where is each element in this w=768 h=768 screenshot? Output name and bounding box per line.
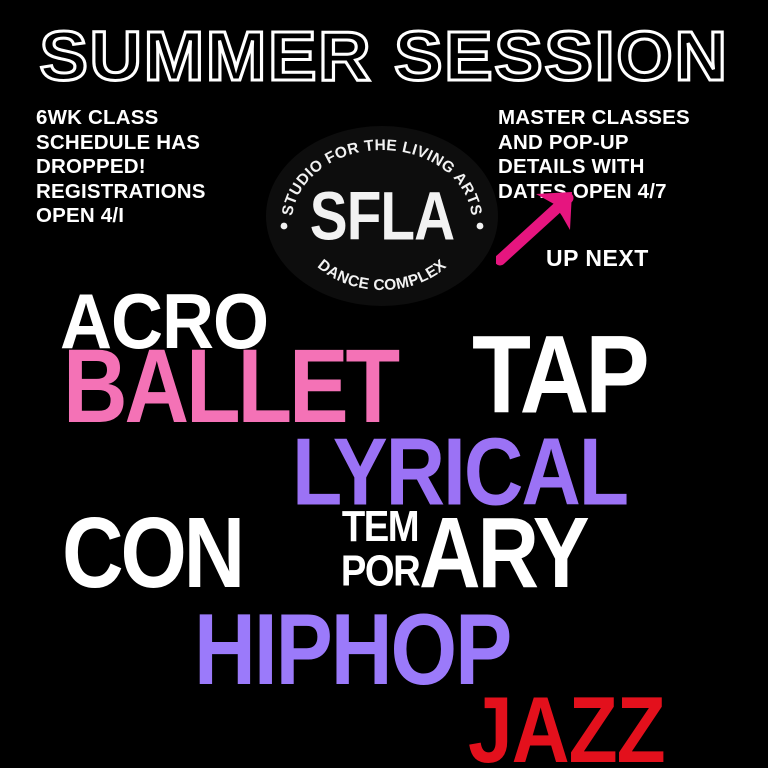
- up-next-label: UP NEXT: [546, 245, 649, 272]
- class-word-con: CON: [62, 504, 242, 604]
- class-word-por: POR: [333, 550, 427, 595]
- logo-monogram: SFLA: [274, 115, 490, 317]
- sfla-logo: STUDIO FOR THE LIVING ARTS DANCE COMPLEX…: [266, 126, 498, 306]
- class-word-tap: TAP: [472, 320, 645, 430]
- class-word-jazz: JAZZ: [468, 683, 665, 768]
- class-word-hiphop: HIPHOP: [194, 599, 510, 700]
- registration-info-text: 6WK CLASS SCHEDULE HAS DROPPED! REGISTRA…: [36, 106, 296, 229]
- class-word-ary: ARY: [419, 504, 587, 604]
- summer-session-poster: SUMMER SESSION 6WK CLASS SCHEDULE HAS DR…: [0, 0, 768, 768]
- class-word-tem: TEM: [333, 505, 427, 550]
- class-word-tempor-stack: TEM POR: [333, 505, 427, 595]
- master-classes-info-text: MASTER CLASSES AND POP-UP DETAILS WITH D…: [498, 106, 766, 204]
- page-title: SUMMER SESSION: [0, 17, 768, 95]
